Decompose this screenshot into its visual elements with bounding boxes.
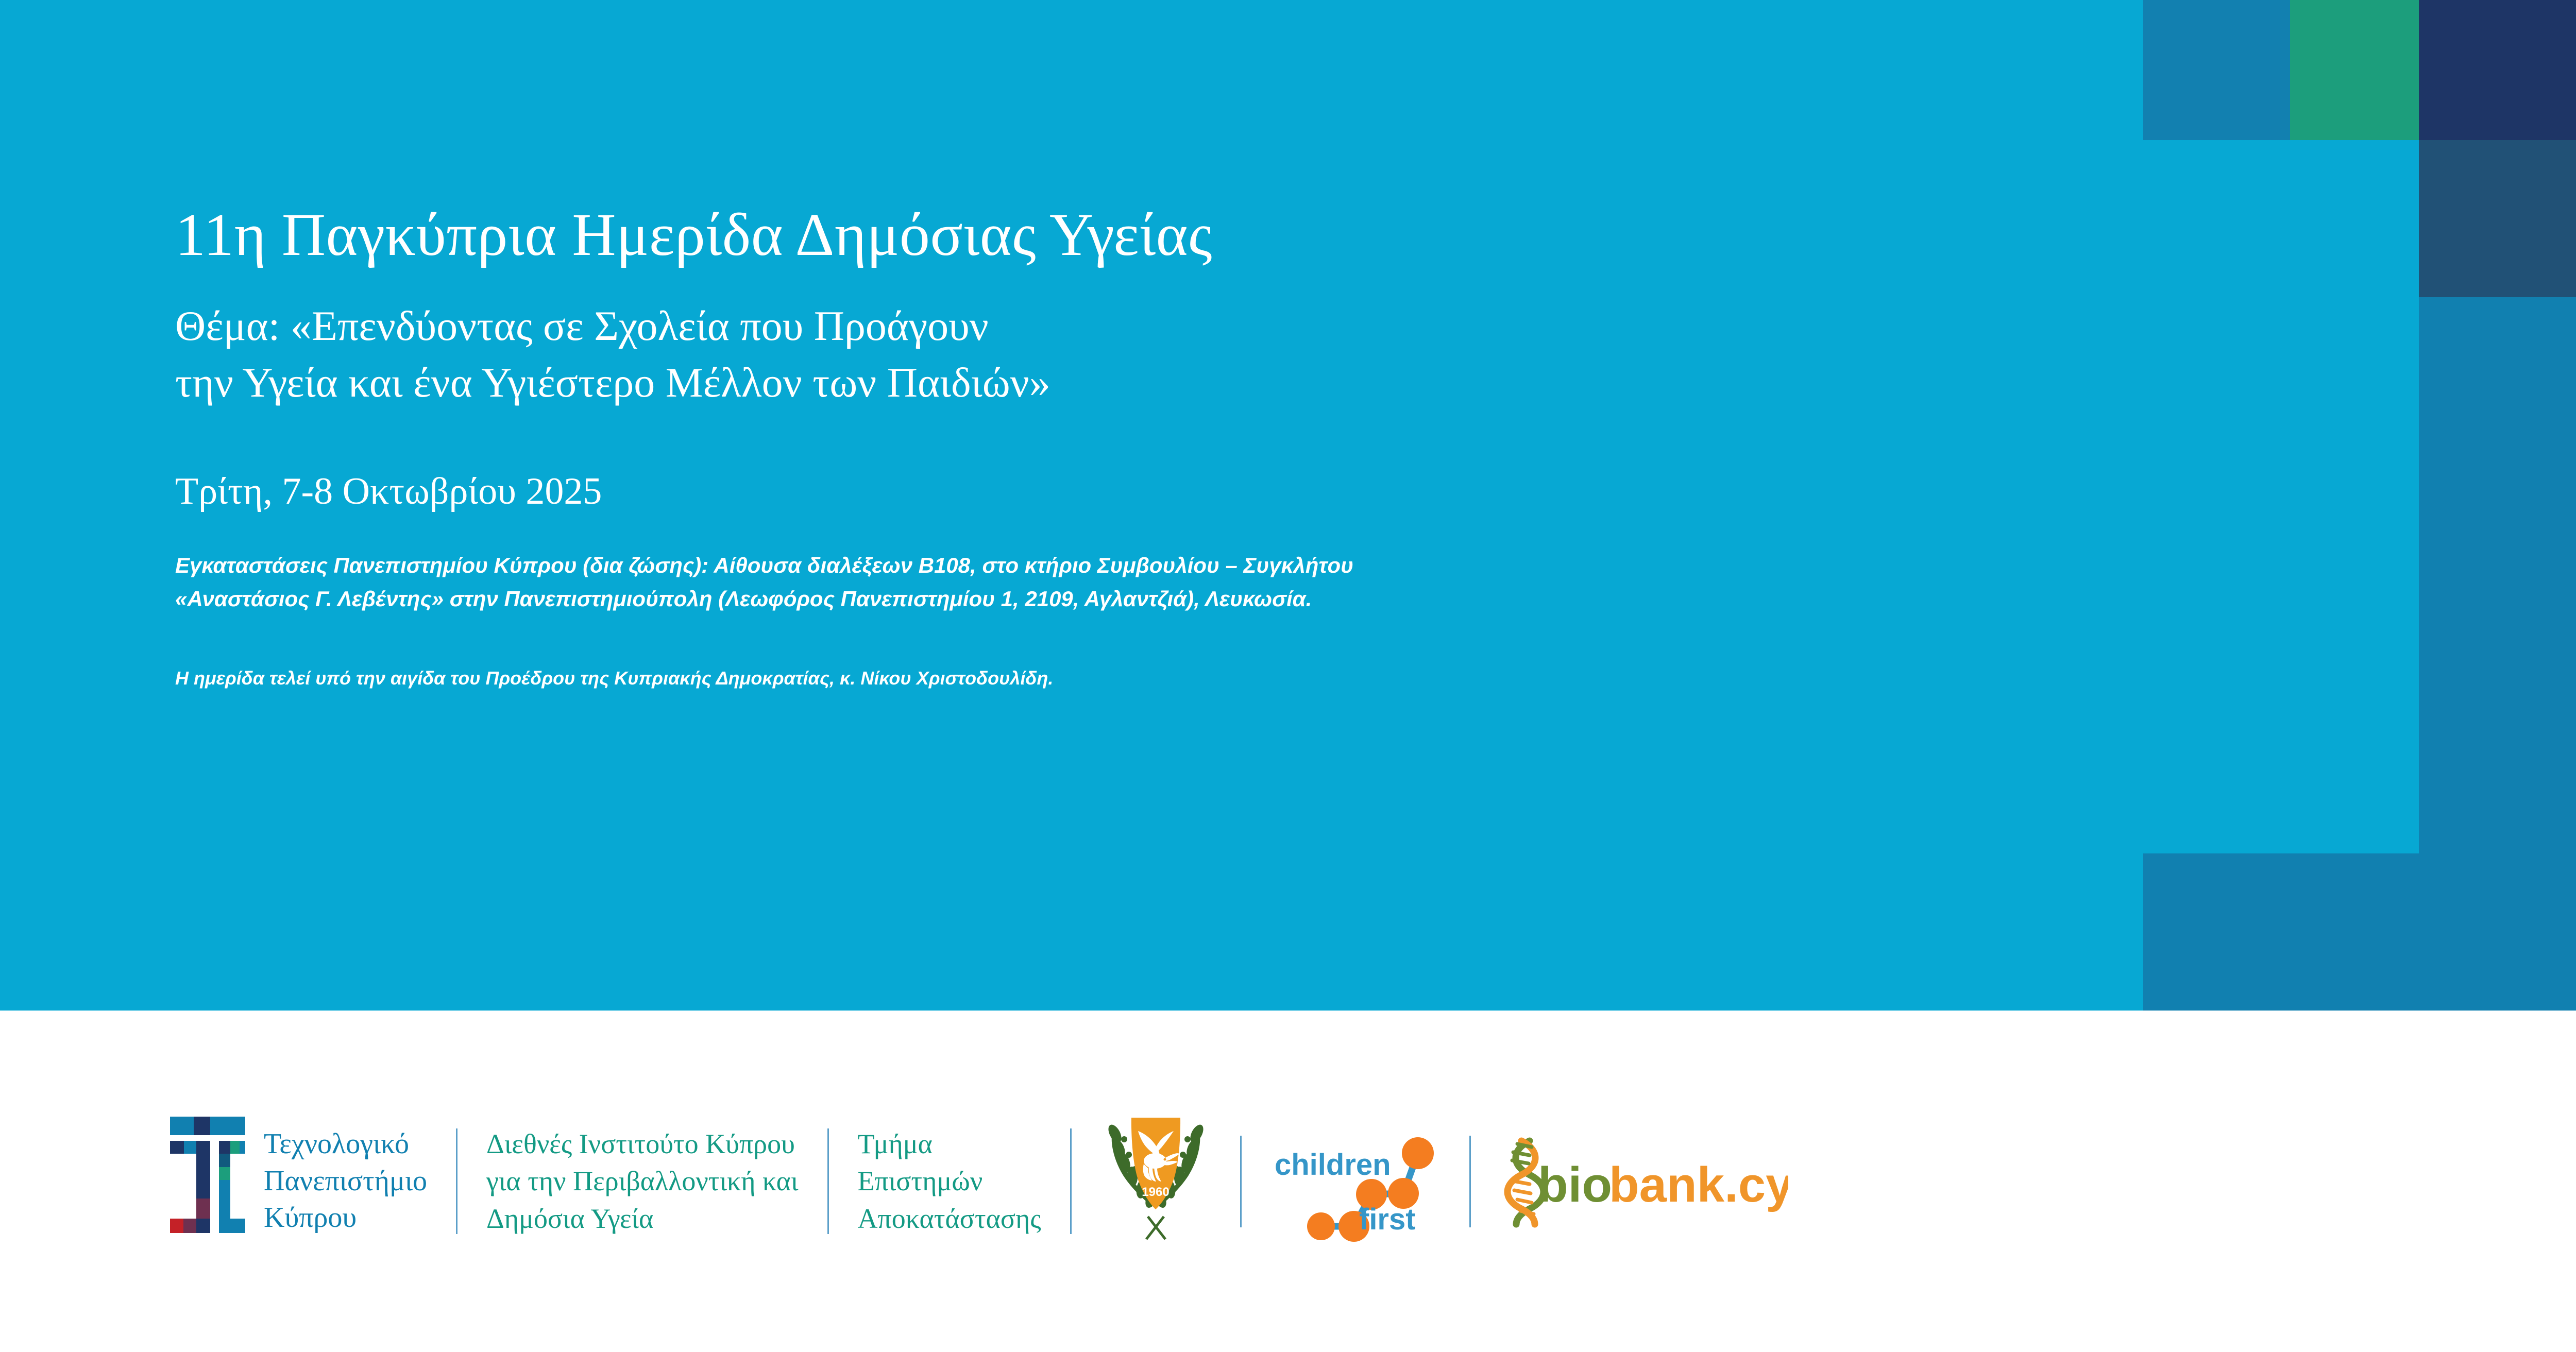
cyprus-coat-of-arms-icon: 1960 bbox=[1100, 1110, 1211, 1252]
decoration-block-1 bbox=[2143, 0, 2290, 140]
logo-tepak: Τεχνολογικό Πανεπιστήμιο Κύπρου bbox=[170, 1117, 427, 1246]
department-line-1: Τμήμα bbox=[858, 1125, 1041, 1162]
footer-divider-3 bbox=[1070, 1128, 1072, 1234]
coat-of-arms-year: 1960 bbox=[1142, 1185, 1169, 1199]
children-first-network-icon: children first bbox=[1270, 1117, 1440, 1246]
decoration-block-2 bbox=[2290, 0, 2419, 140]
logo-department: Τμήμα Επιστημών Αποκατάστασης bbox=[858, 1125, 1041, 1237]
footer-logo-row: Τεχνολογικό Πανεπιστήμιο Κύπρου Διεθνές … bbox=[170, 1110, 1788, 1252]
subtitle-line-2: την Υγεία και ένα Υγιέστερο Μέλλον των Π… bbox=[175, 354, 1927, 411]
footer-divider-4 bbox=[1240, 1136, 1242, 1227]
hero-text-group: 11η Παγκύπρια Ημερίδα Δημόσιας Υγείας Θέ… bbox=[175, 201, 1927, 691]
children-first-word-1: children bbox=[1275, 1148, 1391, 1182]
footer-bar: Τεχνολογικό Πανεπιστήμιο Κύπρου Διεθνές … bbox=[0, 1011, 2576, 1352]
footer-divider-2 bbox=[827, 1128, 829, 1234]
biobank-word-2: bank.cy bbox=[1609, 1157, 1788, 1212]
tepak-name-line-1: Τεχνολογικό bbox=[264, 1126, 427, 1163]
institute-line-1: Διεθνές Ινστιτούτο Κύπρου bbox=[486, 1125, 798, 1162]
subtitle-line-1: Θέμα: «Επενδύοντας σε Σχολεία που Προάγο… bbox=[175, 298, 1927, 354]
decoration-block-6 bbox=[2143, 853, 2576, 1011]
logo-biobank: bio bank.cy bbox=[1500, 1133, 1788, 1230]
footer-divider-1 bbox=[456, 1128, 457, 1234]
decoration-block-4 bbox=[2419, 140, 2576, 297]
tepak-logo-mark-icon bbox=[170, 1117, 245, 1246]
tepak-name-line-3: Κύπρου bbox=[264, 1200, 427, 1237]
children-first-word-2: first bbox=[1359, 1203, 1416, 1236]
department-line-3: Αποκατάστασης bbox=[858, 1200, 1041, 1237]
decoration-block-3 bbox=[2419, 0, 2576, 140]
biobank-word-1: bio bbox=[1538, 1157, 1612, 1212]
auspices-note: Η ημερίδα τελεί υπό την αιγίδα του Προέδ… bbox=[175, 665, 1927, 691]
tepak-name: Τεχνολογικό Πανεπιστήμιο Κύπρου bbox=[264, 1126, 427, 1237]
venue-line-1: Εγκαταστάσεις Πανεπιστημίου Κύπρου (δια … bbox=[175, 549, 1927, 583]
department-line-2: Επιστημών bbox=[858, 1162, 1041, 1200]
venue-line-2: «Αναστάσιος Γ. Λεβέντης» στην Πανεπιστημ… bbox=[175, 582, 1927, 616]
institute-line-2: για την Περιβαλλοντική και bbox=[486, 1162, 798, 1200]
institute-line-3: Δημόσια Υγεία bbox=[486, 1200, 798, 1237]
event-date: Τρίτη, 7-8 Οκτωβρίου 2025 bbox=[175, 469, 1927, 515]
slide-root: 11η Παγκύπρια Ημερίδα Δημόσιας Υγείας Θέ… bbox=[0, 0, 2576, 1352]
tepak-name-line-2: Πανεπιστήμιο bbox=[264, 1163, 427, 1200]
page-subtitle: Θέμα: «Επενδύοντας σε Σχολεία που Προάγο… bbox=[175, 298, 1927, 411]
footer-divider-5 bbox=[1469, 1136, 1471, 1227]
logo-institute: Διεθνές Ινστιτούτο Κύπρου για την Περιβα… bbox=[486, 1125, 798, 1237]
decoration-block-5 bbox=[2419, 297, 2576, 853]
event-venue: Εγκαταστάσεις Πανεπιστημίου Κύπρου (δια … bbox=[175, 549, 1927, 616]
page-title: 11η Παγκύπρια Ημερίδα Δημόσιας Υγείας bbox=[175, 201, 1927, 269]
